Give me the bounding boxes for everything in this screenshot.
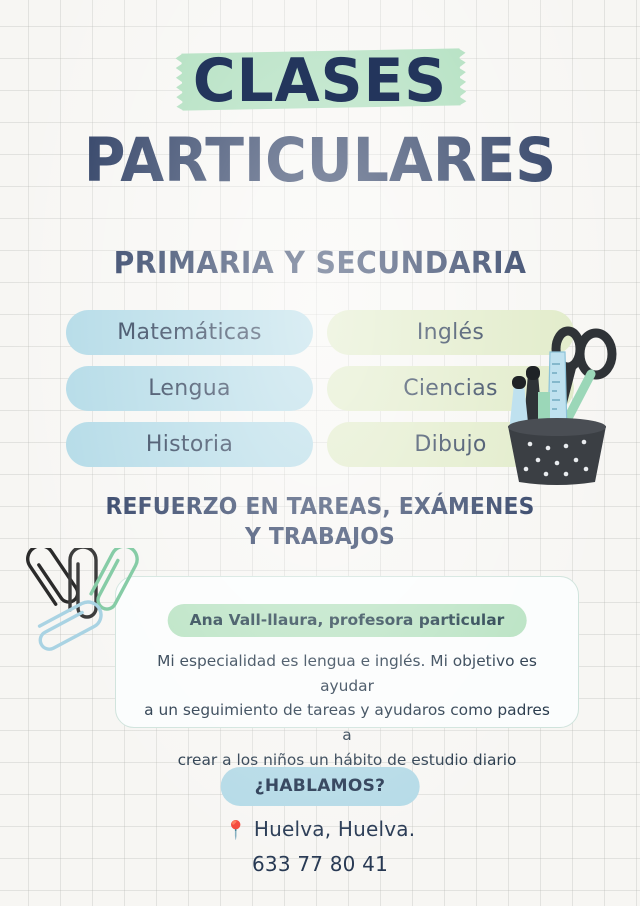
subject-pill-matematicas: Matemáticas bbox=[66, 310, 313, 355]
poster-header: CLASES PARTICULARES bbox=[0, 44, 640, 191]
subject-pill-lengua: Lengua bbox=[66, 366, 313, 411]
subject-label: Ciencias bbox=[403, 376, 498, 401]
teacher-name-badge: Ana Vall-llaura, profesora particular bbox=[168, 604, 527, 637]
title-line-2: PARTICULARES bbox=[22, 130, 617, 191]
title-line-1: CLASES bbox=[193, 51, 447, 111]
testimonial-body: Mi especialidad es lengua e inglés. Mi o… bbox=[138, 649, 556, 772]
subject-label: Matemáticas bbox=[117, 320, 262, 345]
subjects-left-column: Matemáticas Lengua Historia bbox=[66, 310, 313, 467]
subject-label: Lengua bbox=[148, 376, 231, 401]
paperclip-cluster bbox=[26, 548, 141, 663]
reinforcement-line-1: REFUERZO EN TAREAS, EXÁMENES bbox=[16, 492, 624, 522]
testimonial-line-1: Mi especialidad es lengua e inglés. Mi o… bbox=[138, 649, 556, 698]
pencil-cup-illustration bbox=[492, 322, 622, 487]
poster-subtitle: PRIMARIA Y SECUNDARIA bbox=[19, 246, 621, 281]
cta-badge: ¿HABLAMOS? bbox=[221, 767, 420, 806]
testimonial-card: Ana Vall-llaura, profesora particular Mi… bbox=[115, 576, 579, 728]
paperclip-black-icon bbox=[26, 548, 81, 610]
location-line: 📍 Huelva, Huelva. bbox=[0, 817, 640, 841]
subject-label: Inglés bbox=[417, 320, 484, 345]
cup-icon bbox=[508, 418, 606, 485]
phone-number: 633 77 80 41 bbox=[0, 852, 640, 876]
poster-canvas: CLASES PARTICULARES PRIMARIA Y SECUNDARI… bbox=[0, 0, 640, 906]
reinforcement-text: REFUERZO EN TAREAS, EXÁMENES Y TRABAJOS bbox=[16, 492, 624, 553]
testimonial-line-2: a un seguimiento de tareas y ayudaros co… bbox=[138, 698, 556, 747]
title-line-1-row: CLASES bbox=[0, 44, 640, 118]
subject-pill-historia: Historia bbox=[66, 422, 313, 467]
subject-label: Dibujo bbox=[414, 432, 486, 457]
location-pin-icon: 📍 bbox=[225, 820, 248, 841]
subject-label: Historia bbox=[146, 432, 233, 457]
location-text: Huelva, Huelva. bbox=[254, 817, 415, 841]
